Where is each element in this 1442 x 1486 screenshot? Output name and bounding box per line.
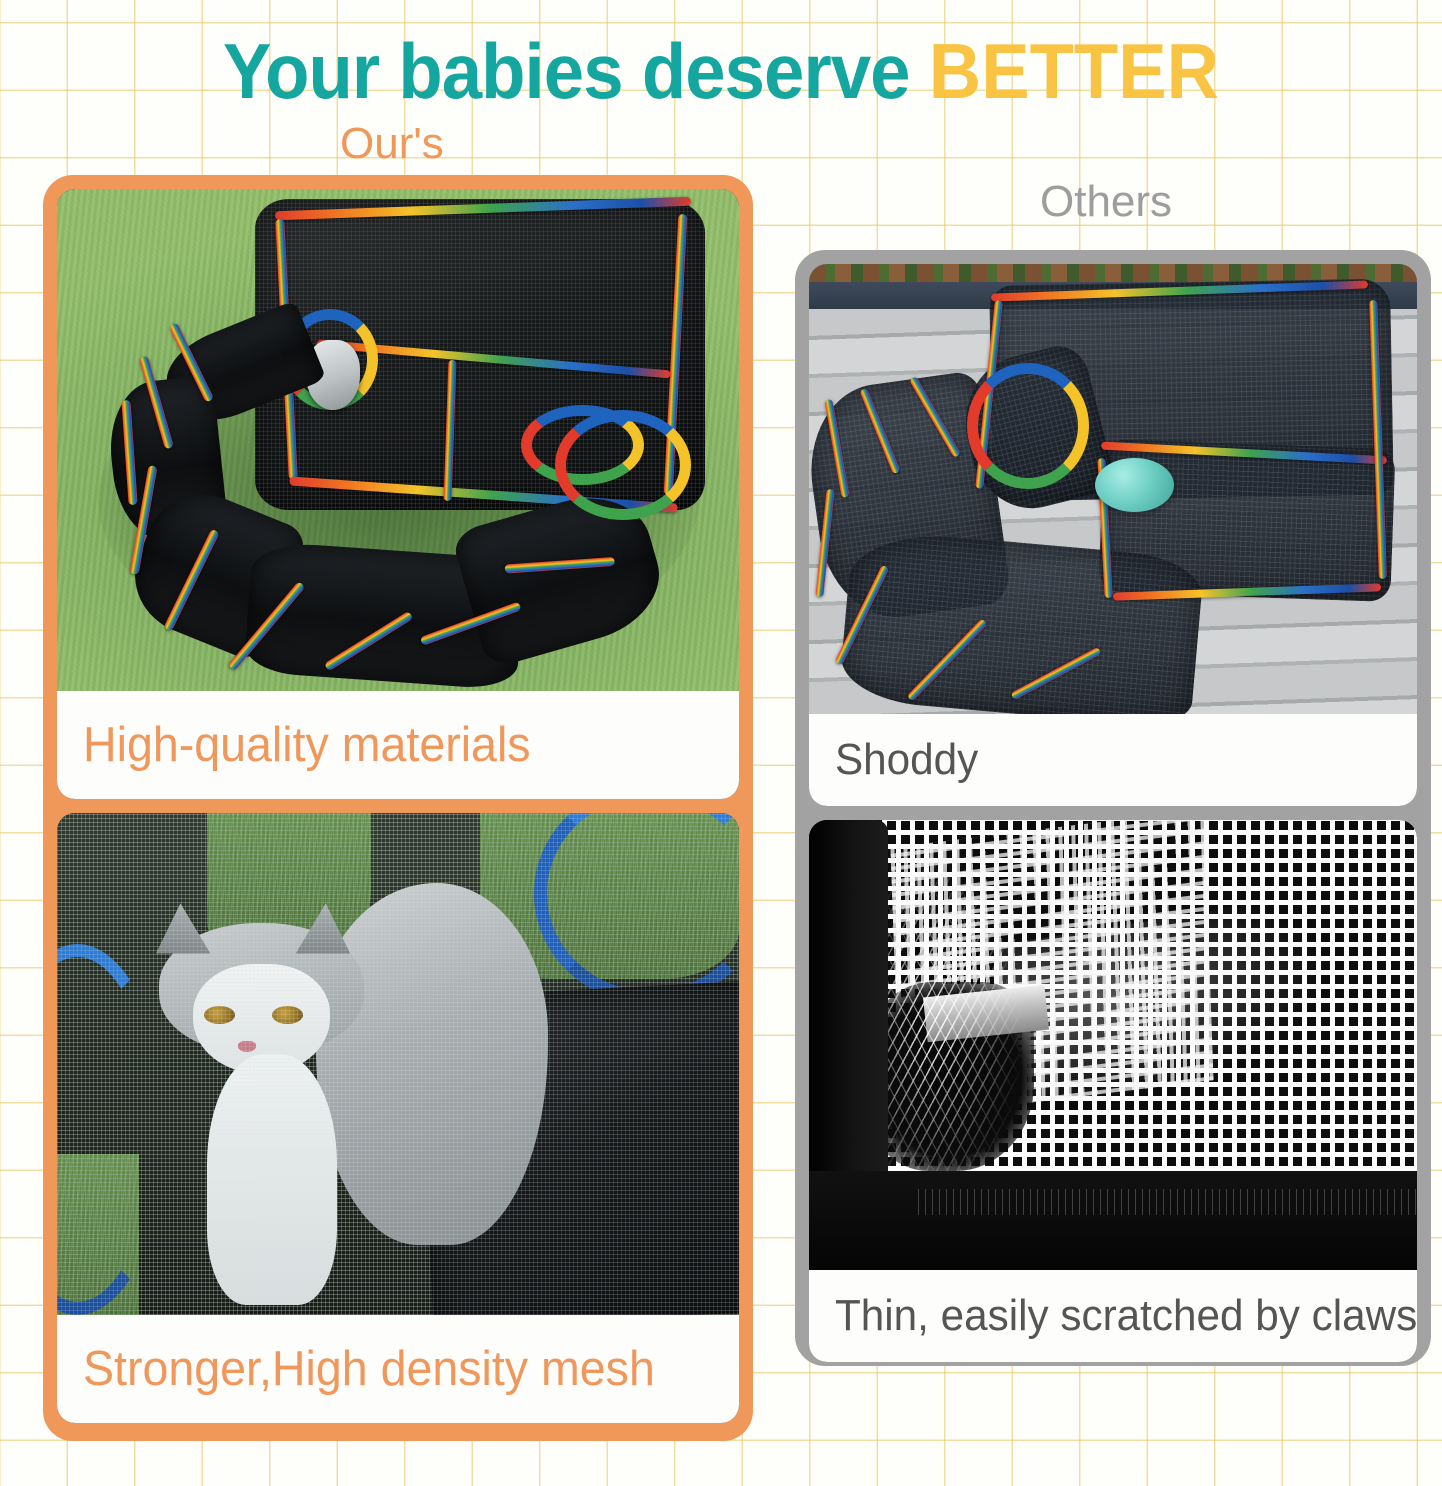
page-title: Your babies deserve BETTER <box>50 32 1391 110</box>
rainbow-cat-playpen-tunnel-on-turf-photo <box>57 189 739 691</box>
comparison-card-ours-1: High-quality materials <box>57 189 739 799</box>
page-title-emphasis: BETTER <box>929 27 1219 115</box>
caption-text: High-quality materials <box>83 721 531 770</box>
tunnel-mouth-opening <box>555 410 691 520</box>
shoddy-tunnel-opening <box>967 363 1089 489</box>
comparison-panel-ours: High-quality materials <box>43 175 753 1441</box>
column-label-ours: Our's <box>340 122 444 166</box>
infographic-page: Your babies deserve BETTER Our's Others <box>0 0 1442 1486</box>
caption-thin-easily-scratched: Thin, easily scratched by claws <box>809 1270 1417 1362</box>
comparison-card-others-2: Thin, easily scratched by claws <box>809 820 1417 1362</box>
caption-text: Shoddy <box>835 738 978 782</box>
caption-stronger-high-density-mesh: Stronger,High density mesh <box>57 1315 739 1423</box>
black-fabric-seam <box>809 1171 1417 1270</box>
teal-ball-toy <box>1095 458 1174 512</box>
cat-body <box>316 883 548 1244</box>
comparison-card-ours-2: Stronger,High density mesh <box>57 813 739 1423</box>
column-label-others: Others <box>1040 180 1172 224</box>
torn-thin-mesh-closeup-photo <box>809 820 1417 1270</box>
caption-text: Thin, easily scratched by claws <box>835 1294 1417 1338</box>
gray-cat-inside-mesh-tunnel-photo <box>57 813 739 1315</box>
comparison-card-others-1: Shoddy <box>809 264 1417 806</box>
caption-text: Stronger,High density mesh <box>83 1345 655 1394</box>
comparison-panel-others: Shoddy Thin, easily scratched by claws <box>795 250 1431 1366</box>
caption-high-quality-materials: High-quality materials <box>57 691 739 799</box>
caption-shoddy: Shoddy <box>809 714 1417 806</box>
shoddy-tunnel-on-deck-photo <box>809 264 1417 714</box>
page-title-primary: Your babies deserve <box>223 27 929 115</box>
cat-chest <box>207 1054 337 1305</box>
